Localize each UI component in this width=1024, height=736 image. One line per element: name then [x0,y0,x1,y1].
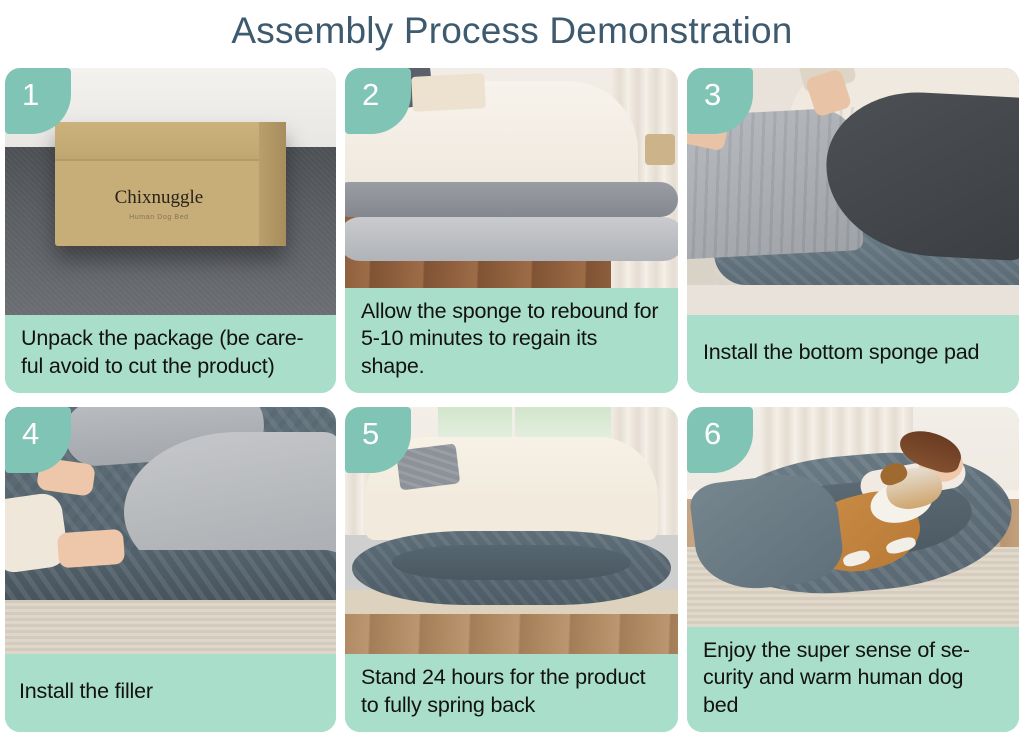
page-title: Assembly Process Demonstration [0,0,1024,62]
grey-bolster [345,182,678,217]
cream-pillow [411,73,486,112]
lower-hand [57,528,125,567]
step-caption-1: Unpack the package (be care-ful avoid to… [5,315,336,393]
step-2-photo: 2 [345,68,678,288]
step-3-photo: 3 [687,68,1019,315]
woven-rug [5,600,336,654]
step-card-5: 5 Stand 24 hours for the productto fully… [345,407,678,732]
step-caption-6: Enjoy the super sense of se-curity and w… [687,627,1019,733]
step-card-4: 4 Install the filler [5,407,336,732]
box-subtitle-label: Human Dog Bed [55,214,264,221]
step-4-photo: 4 [5,407,336,654]
step-caption-5: Stand 24 hours for the productto fully s… [345,654,678,732]
step-6-photo: 6 [687,407,1019,627]
box-brand-label: Chixnuggle [55,187,264,209]
box-top-flap [55,122,287,159]
step-card-2: 2 Allow the sponge to rebound for5-10 mi… [345,68,678,393]
wood-floor [345,614,678,654]
steps-grid: Chixnuggle Human Dog Bed 1 Unpack the pa… [5,68,1019,732]
step-card-6: 6 Enjoy the super sense of se-curity and… [687,407,1019,732]
sponge-pad [345,217,678,261]
step-5-photo: 5 [345,407,678,654]
box-side [259,122,287,246]
cardboard-box: Chixnuggle Human Dog Bed [55,122,287,246]
step-caption-2: Allow the sponge to rebound for5-10 minu… [345,288,678,394]
box-tape-seam [55,159,259,161]
bed-inner-cushion [392,545,632,580]
side-stool [645,134,675,165]
step-1-photo: Chixnuggle Human Dog Bed 1 [5,68,336,315]
step-caption-3: Install the bottom sponge pad [687,315,1019,393]
assembly-infographic: Assembly Process Demonstration Chixnuggl… [0,0,1024,736]
step-card-3: 3 Install the bottom sponge pad [687,68,1019,393]
step-caption-4: Install the filler [5,654,336,732]
step-card-1: Chixnuggle Human Dog Bed 1 Unpack the pa… [5,68,336,393]
